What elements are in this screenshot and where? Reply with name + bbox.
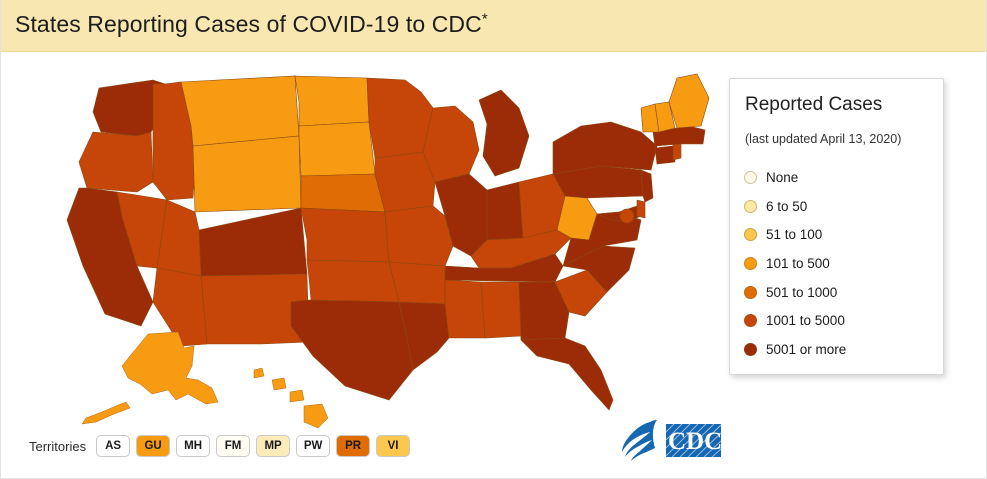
state-HI-maui[interactable]	[290, 390, 304, 402]
legend-item-501-to-1000[interactable]: 501 to 1000	[744, 278, 934, 307]
state-RI[interactable]	[673, 144, 681, 160]
territories-bar: Territories AS GU MH FM MP PW PR VI	[29, 435, 416, 457]
state-OR[interactable]	[79, 132, 153, 192]
legend-item-none[interactable]: None	[744, 163, 934, 192]
state-AL[interactable]	[481, 282, 521, 338]
page-header: States Reporting Cases of COVID-19 to CD…	[1, 0, 987, 52]
map-area: Reported Cases (last updated April 13, 2…	[1, 52, 987, 479]
legend-item-label: None	[766, 170, 798, 185]
legend-item-101-to-500[interactable]: 101 to 500	[744, 249, 934, 278]
map-legend: Reported Cases (last updated April 13, 2…	[729, 78, 944, 375]
cdc-wordmark: CDC	[666, 424, 721, 457]
legend-item-6-to-50[interactable]: 6 to 50	[744, 192, 934, 221]
state-OK[interactable]	[307, 260, 399, 302]
state-ME[interactable]	[669, 74, 709, 128]
state-WY[interactable]	[193, 136, 301, 212]
legend-item-5001-or-more[interactable]: 5001 or more	[744, 335, 934, 364]
title-asterisk: *	[482, 10, 488, 27]
page-title-text: States Reporting Cases of COVID-19 to CD…	[15, 11, 482, 37]
territory-chip-pw[interactable]: PW	[296, 435, 330, 457]
legend-title: Reported Cases	[745, 94, 882, 116]
legend-swatch-icon	[744, 286, 757, 299]
legend-item-51-to-100[interactable]: 51 to 100	[744, 220, 934, 249]
state-DE[interactable]	[637, 200, 645, 218]
hhs-bird-icon	[622, 420, 657, 461]
state-MN[interactable]	[367, 78, 433, 158]
state-FL[interactable]	[521, 338, 613, 410]
state-MI[interactable]	[479, 90, 529, 176]
state-NJ[interactable]	[641, 170, 653, 202]
state-DC[interactable]	[620, 209, 634, 223]
state-AK[interactable]	[122, 332, 218, 404]
legend-updated-note: (last updated April 13, 2020)	[745, 132, 901, 146]
state-HI-bigisland[interactable]	[304, 404, 328, 428]
territory-chip-as[interactable]: AS	[96, 435, 130, 457]
legend-item-label: 501 to 1000	[766, 285, 837, 300]
legend-swatch-icon	[744, 257, 757, 270]
state-IA[interactable]	[375, 152, 435, 212]
territories-label: Territories	[29, 439, 86, 454]
legend-item-label: 101 to 500	[766, 256, 830, 271]
state-NY[interactable]	[553, 122, 657, 174]
state-MS[interactable]	[445, 280, 485, 338]
legend-swatch-icon	[744, 228, 757, 241]
state-CT[interactable]	[655, 146, 675, 164]
legend-items-list: None 6 to 50 51 to 100 101 to 500 501 to	[744, 163, 934, 364]
legend-item-label: 1001 to 5000	[766, 313, 845, 328]
legend-item-label: 6 to 50	[766, 199, 807, 214]
state-KS[interactable]	[301, 208, 389, 262]
state-MT[interactable]	[181, 76, 299, 146]
territory-chip-mh[interactable]: MH	[176, 435, 210, 457]
state-SD[interactable]	[299, 122, 375, 176]
cdc-logo: CDC	[616, 418, 721, 462]
legend-item-label: 51 to 100	[766, 227, 822, 242]
state-ND[interactable]	[295, 76, 369, 126]
legend-swatch-icon	[744, 171, 757, 184]
state-NE[interactable]	[301, 174, 385, 212]
page-title: States Reporting Cases of COVID-19 to CD…	[15, 11, 488, 38]
covid-map-page: States Reporting Cases of COVID-19 to CD…	[0, 0, 987, 479]
state-MO[interactable]	[385, 206, 453, 266]
state-HI-oahu[interactable]	[272, 378, 286, 390]
state-WI[interactable]	[423, 106, 479, 182]
legend-item-1001-to-5000[interactable]: 1001 to 5000	[744, 306, 934, 335]
legend-swatch-icon	[744, 343, 757, 356]
map-insets[interactable]	[56, 322, 346, 437]
territory-chip-fm[interactable]: FM	[216, 435, 250, 457]
territory-chip-gu[interactable]: GU	[136, 435, 170, 457]
legend-swatch-icon	[744, 200, 757, 213]
territory-chip-pr[interactable]: PR	[336, 435, 370, 457]
territory-chip-mp[interactable]: MP	[256, 435, 290, 457]
state-HI-kauai[interactable]	[254, 368, 264, 378]
legend-swatch-icon	[744, 314, 757, 327]
state-CO[interactable]	[199, 208, 307, 276]
legend-item-label: 5001 or more	[766, 342, 846, 357]
territory-chip-vi[interactable]: VI	[376, 435, 410, 457]
state-AK-aleutians[interactable]	[82, 402, 130, 424]
cdc-logo-text: CDC	[668, 428, 721, 455]
state-IN[interactable]	[487, 182, 523, 240]
